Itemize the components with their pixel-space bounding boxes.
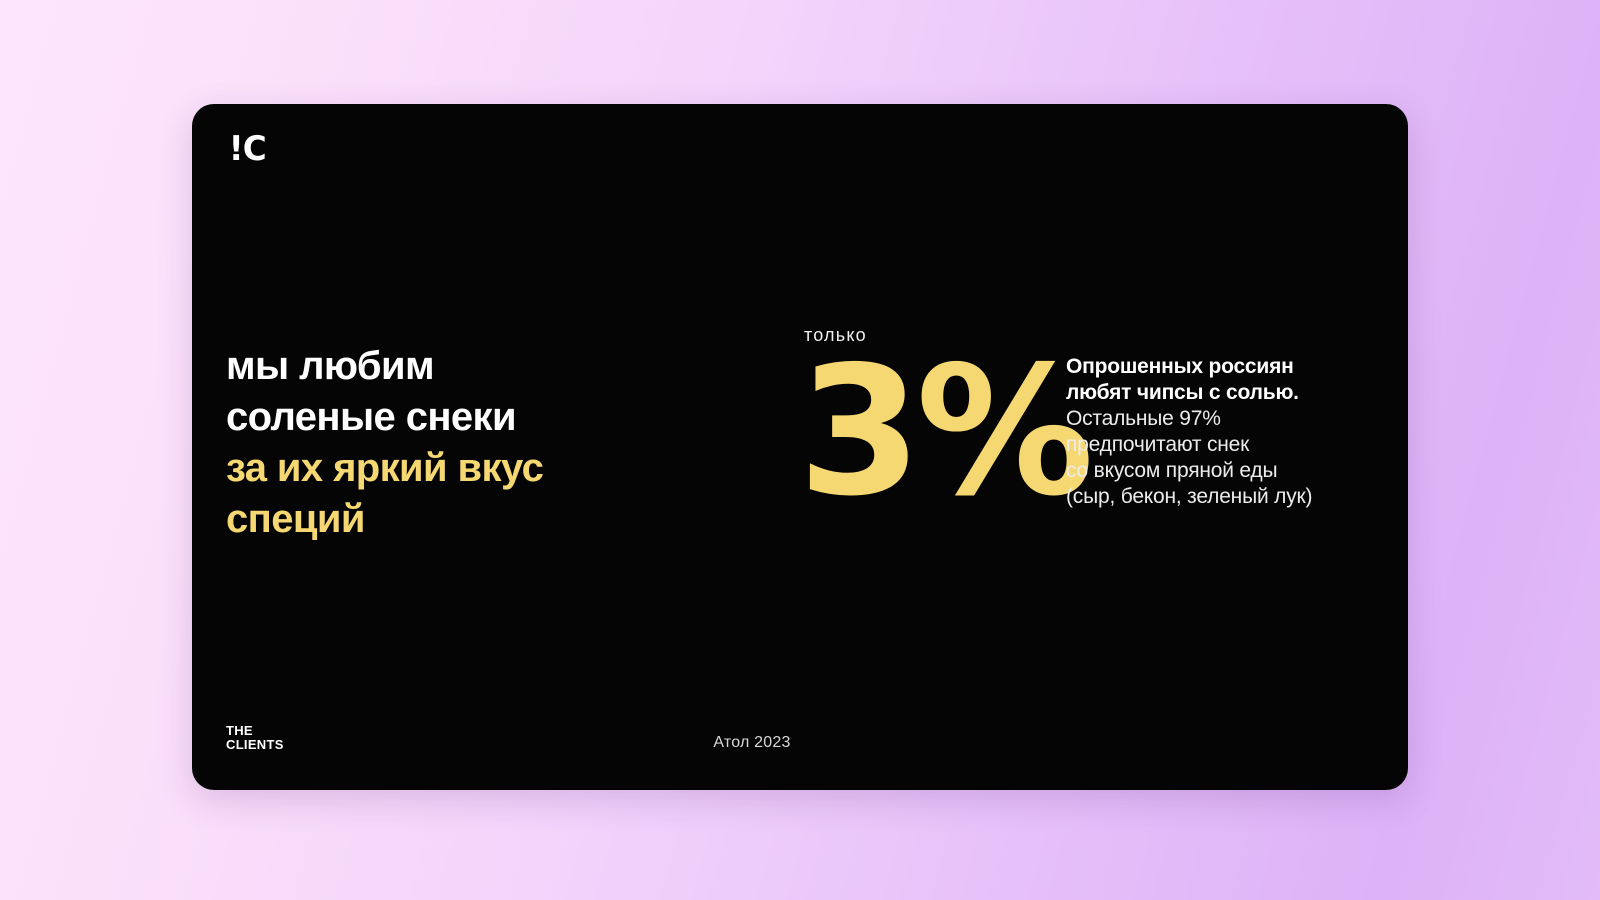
headline-line-2: соленые снеки — [226, 392, 696, 443]
ic-logo-text: !C — [229, 132, 266, 166]
description-line-2: любят чипсы с солью. — [1066, 380, 1386, 406]
description-line-3: Остальные 97% — [1066, 406, 1386, 432]
ic-logo: !C — [228, 126, 266, 166]
description-line-1: Опрошенных россиян — [1066, 354, 1386, 380]
slide-headline: мы любим соленые снеки за их яркий вкус … — [226, 341, 696, 545]
footer-credit: Атол 2023 — [192, 734, 1408, 752]
page-background: !C мы любим соленые снеки за их яркий вк… — [0, 0, 1600, 900]
statistic-description: Опрошенных россиян любят чипсы с солью. … — [1066, 354, 1386, 510]
headline-line-4: специй — [226, 494, 696, 545]
statistic-value: 3% — [798, 350, 1058, 514]
description-line-4: предпочитают снек — [1066, 432, 1386, 458]
statistic-block: только 3% — [798, 326, 1058, 514]
headline-line-1: мы любим — [226, 341, 696, 392]
description-line-6: (сыр, бекон, зеленый лук) — [1066, 484, 1386, 510]
description-line-5: со вкусом пряной еды — [1066, 458, 1386, 484]
headline-line-3: за их яркий вкус — [226, 443, 696, 494]
presentation-slide-card: !C мы любим соленые снеки за их яркий вк… — [192, 104, 1408, 790]
